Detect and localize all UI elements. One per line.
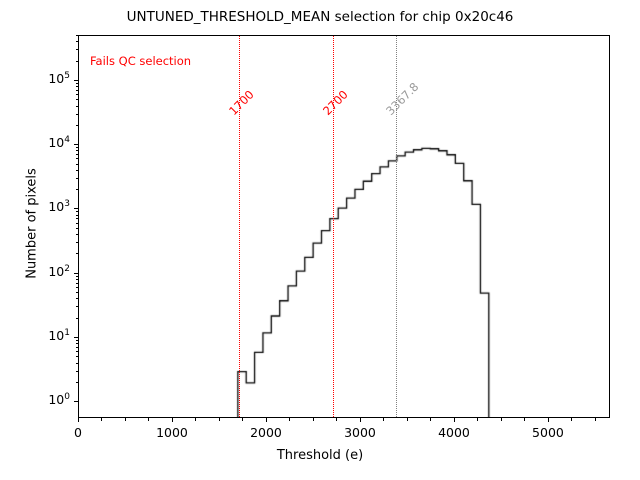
y-axis-minor-tick — [76, 279, 79, 280]
y-axis-minor-tick — [76, 356, 79, 357]
y-axis-minor-tick — [76, 90, 79, 91]
y-axis-minor-tick — [76, 283, 79, 284]
y-axis-minor-tick — [76, 287, 79, 288]
x-axis-minor-tick — [242, 418, 243, 421]
y-axis-minor-tick — [76, 35, 79, 36]
y-axis-minor-tick — [76, 223, 79, 224]
x-axis-tick — [548, 418, 549, 422]
x-axis-minor-tick — [101, 418, 102, 421]
y-axis-minor-tick — [76, 382, 79, 383]
y-axis-minor-tick — [76, 150, 79, 151]
y-axis-minor-tick — [76, 41, 79, 42]
y-axis-minor-tick — [76, 86, 79, 87]
y-axis-minor-tick — [76, 363, 79, 364]
y-axis-minor-tick — [76, 178, 79, 179]
x-axis-tick-label: 5000 — [508, 425, 588, 440]
x-axis-tick-label: 2000 — [226, 425, 306, 440]
x-axis-tick-label: 4000 — [414, 425, 494, 440]
x-axis-tick — [266, 418, 267, 422]
y-axis-tick — [74, 144, 78, 145]
y-axis-tick — [74, 208, 78, 209]
y-axis-minor-tick — [76, 276, 79, 277]
x-axis-minor-tick — [430, 418, 431, 421]
y-axis-minor-tick — [76, 253, 79, 254]
y-axis-tick-label: 105 — [26, 71, 70, 86]
y-axis-minor-tick — [76, 106, 79, 107]
y-axis-minor-tick — [76, 242, 79, 243]
x-axis-minor-tick — [289, 418, 290, 421]
x-axis-minor-tick — [125, 418, 126, 421]
x-axis-minor-tick — [219, 418, 220, 421]
y-axis-minor-tick — [76, 94, 79, 95]
x-axis-tick-label: 0 — [38, 425, 118, 440]
y-axis-tick-label: 100 — [26, 392, 70, 407]
y-axis-minor-tick — [76, 154, 79, 155]
x-axis-minor-tick — [524, 418, 525, 421]
y-axis-minor-tick — [76, 347, 79, 348]
x-axis-label: Threshold (e) — [0, 448, 640, 463]
x-axis-tick-label: 3000 — [320, 425, 400, 440]
x-axis-minor-tick — [477, 418, 478, 421]
y-axis-minor-tick — [76, 147, 79, 148]
page-title: UNTUNED_THRESHOLD_MEAN selection for chi… — [0, 9, 640, 25]
x-axis-minor-tick — [407, 418, 408, 421]
histogram-figure: UNTUNED_THRESHOLD_MEAN selection for chi… — [0, 0, 640, 480]
y-axis-minor-tick — [76, 158, 79, 159]
x-axis-tick — [454, 418, 455, 422]
x-axis-minor-tick — [336, 418, 337, 421]
y-axis-minor-tick — [76, 234, 79, 235]
y-axis-minor-tick — [76, 189, 79, 190]
y-axis-tick — [74, 337, 78, 338]
y-axis-minor-tick — [76, 351, 79, 352]
x-axis-minor-tick — [571, 418, 572, 421]
y-axis-minor-tick — [76, 211, 79, 212]
y-axis-minor-tick — [76, 371, 79, 372]
y-axis-minor-tick — [76, 125, 79, 126]
y-axis-minor-tick — [76, 228, 79, 229]
y-axis-minor-tick — [76, 164, 79, 165]
y-axis-minor-tick — [76, 99, 79, 100]
y-axis-minor-tick — [76, 170, 79, 171]
x-axis-tick — [172, 418, 173, 422]
y-axis-minor-tick — [76, 218, 79, 219]
y-axis-tick — [74, 273, 78, 274]
x-axis-minor-tick — [383, 418, 384, 421]
y-axis-label: Number of pixels — [25, 104, 40, 344]
y-axis-minor-tick — [76, 215, 79, 216]
y-axis-minor-tick — [76, 83, 79, 84]
x-axis-minor-tick — [313, 418, 314, 421]
x-axis-minor-tick — [195, 418, 196, 421]
y-axis-tick — [74, 80, 78, 81]
y-axis-minor-tick — [76, 292, 79, 293]
y-axis-minor-tick — [76, 318, 79, 319]
x-axis-minor-tick — [148, 418, 149, 421]
y-axis-minor-tick — [76, 306, 79, 307]
y-axis-tick — [74, 401, 78, 402]
y-axis-minor-tick — [76, 343, 79, 344]
y-axis-minor-tick — [76, 340, 79, 341]
x-axis-tick-label: 1000 — [132, 425, 212, 440]
x-axis-tick — [78, 418, 79, 422]
x-axis-minor-tick — [595, 418, 596, 421]
y-axis-minor-tick — [76, 49, 79, 50]
y-axis-minor-tick — [76, 114, 79, 115]
y-axis-minor-tick — [76, 61, 79, 62]
x-axis-minor-tick — [501, 418, 502, 421]
x-axis-tick — [360, 418, 361, 422]
fails-qc-note: Fails QC selection — [90, 54, 191, 68]
y-axis-minor-tick — [76, 298, 79, 299]
